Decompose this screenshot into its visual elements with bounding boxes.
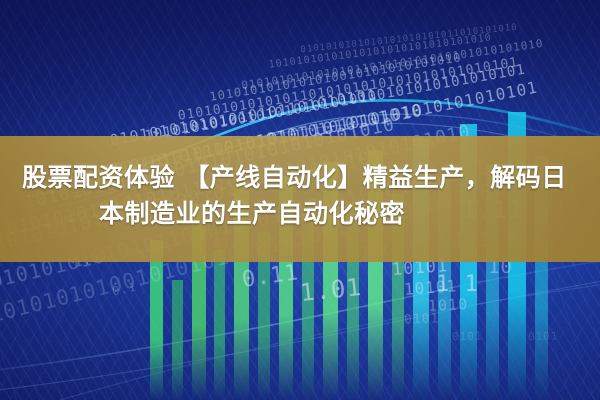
headline-line-1: 股票配资体验 【产线自动化】精益生产，解码日 (10, 160, 590, 196)
binary-token: 0101 (404, 311, 440, 327)
binary-token: 1 1 (436, 272, 479, 297)
headline-line-2: 本制造业的生产自动化秘密 (10, 196, 590, 232)
binary-token: 0.11 (241, 260, 301, 293)
binary-token: 1.01 (299, 273, 363, 307)
headline-block: 股票配资体验 【产线自动化】精益生产，解码日 本制造业的生产自动化秘密 (0, 160, 600, 232)
binary-token: 0101 (528, 329, 559, 343)
binary-token: 0101 (452, 329, 483, 343)
banner-image: 0101010101010101010101011010101010101010… (0, 0, 600, 400)
